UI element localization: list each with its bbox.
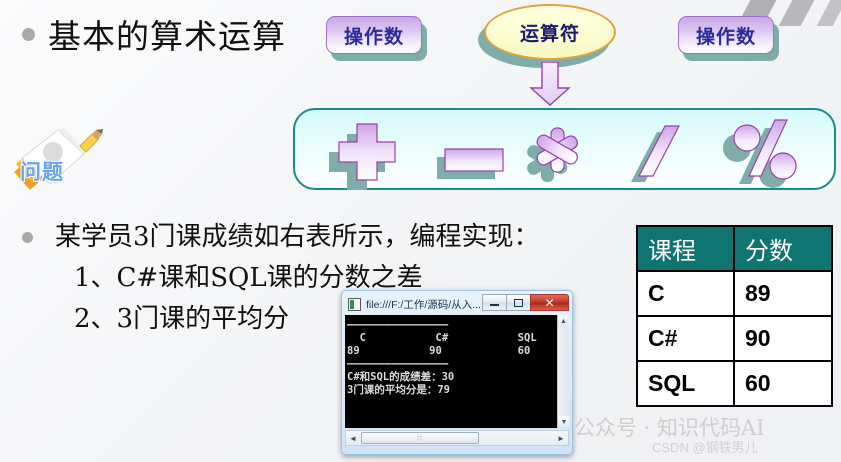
cell-course: SQL: [637, 361, 734, 406]
table-row: C 89: [637, 271, 832, 316]
scroll-right-icon[interactable]: ►: [554, 434, 568, 443]
console-title-bar[interactable]: file:///F:/工作/源码/从入... ✕: [345, 294, 569, 315]
operand-left-face: 操作数: [326, 16, 422, 54]
operand-right-label: 操作数: [696, 22, 756, 49]
cell-course: C: [637, 271, 734, 316]
operator-label: 运算符: [520, 19, 580, 46]
operator-symbols-group: [295, 110, 838, 192]
close-icon: ✕: [544, 297, 554, 309]
console-output-area[interactable]: ———————————————— C C# SQL 89 90 60 —————…: [345, 315, 569, 428]
watermark-sub: CSDN @钢铁男儿: [652, 437, 758, 456]
operand-left-callout: 操作数: [326, 16, 422, 54]
score-table: 课程 分数 C 89 C# 90 SQL 60: [636, 225, 833, 407]
plus-operator-icon: [329, 124, 395, 190]
maximize-button[interactable]: [506, 294, 531, 311]
console-window[interactable]: file:///F:/工作/源码/从入... ✕ ———————————————…: [341, 290, 573, 455]
console-window-title: file:///F:/工作/源码/从入...: [366, 297, 481, 312]
console-output-text: ———————————————— C C# SQL 89 90 60 —————…: [347, 319, 569, 397]
cell-course: C#: [637, 316, 734, 361]
minimize-icon: [490, 304, 499, 306]
cell-score: 60: [734, 361, 832, 406]
minus-operator-icon: [437, 149, 503, 179]
table-header-row: 课程 分数: [637, 226, 832, 271]
body-sub-line-1: 1、C#课和SQL课的分数之差: [74, 257, 423, 294]
operand-right-face: 操作数: [678, 16, 774, 54]
down-arrow-icon: [529, 62, 571, 106]
body-bullet-icon: [22, 232, 33, 243]
percent-operator-icon: [723, 120, 796, 188]
operand-left-label: 操作数: [344, 22, 404, 49]
operand-right-callout: 操作数: [678, 16, 774, 54]
body-main-line: 某学员3门课成绩如右表所示，编程实现：: [55, 216, 540, 253]
close-button[interactable]: ✕: [530, 294, 569, 311]
console-app-icon: [348, 298, 361, 311]
body-sub-line-2: 2、3门课的平均分: [74, 298, 289, 335]
maximize-icon: [514, 299, 523, 307]
operator-ellipse-face: 运算符: [484, 4, 616, 60]
asterisk-operator-icon: [525, 128, 580, 182]
console-vertical-scrollbar[interactable]: ▲ ▼: [557, 315, 569, 428]
slash-operator-icon: [631, 126, 679, 182]
operator-callout: 运算符: [484, 4, 616, 68]
scrollbar-thumb[interactable]: ⦙⦙: [361, 432, 479, 444]
table-row: SQL 60: [637, 361, 832, 406]
scroll-up-icon[interactable]: ▲: [558, 315, 569, 327]
table-row: C# 90: [637, 316, 832, 361]
cell-score: 90: [734, 316, 832, 361]
table-header-course: 课程: [637, 226, 734, 271]
window-controls[interactable]: ✕: [483, 294, 569, 311]
title-bullet-icon: [22, 28, 35, 41]
console-horizontal-scrollbar[interactable]: ◄ ⦙⦙ ►: [345, 430, 569, 446]
table-header-score: 分数: [734, 226, 832, 271]
page-title: 基本的算术运算: [48, 10, 286, 58]
minimize-button[interactable]: [482, 294, 507, 311]
scroll-down-icon[interactable]: ▼: [558, 416, 569, 428]
scroll-left-icon[interactable]: ◄: [346, 434, 360, 443]
question-notepad-icon: 问题: [6, 126, 110, 196]
cell-score: 89: [734, 271, 832, 316]
operators-panel: [293, 108, 836, 190]
question-icon-label: 问题: [20, 156, 64, 186]
